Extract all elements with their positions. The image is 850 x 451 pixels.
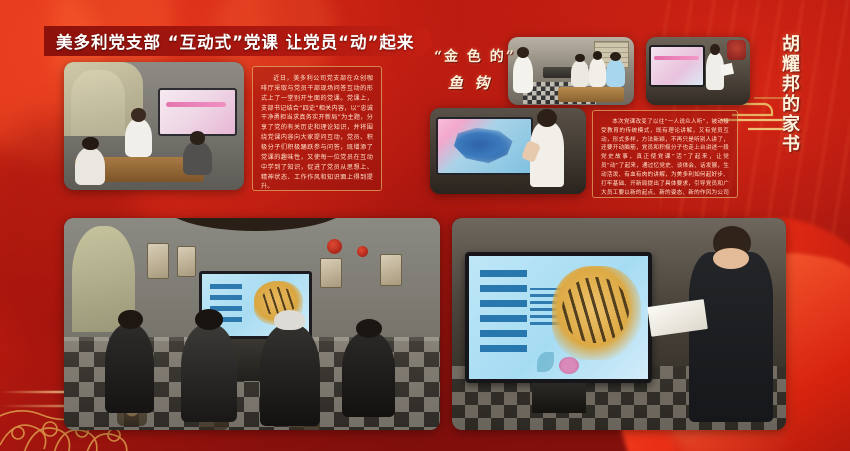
- screen-flower-decoration: [559, 357, 579, 374]
- photo-standing-group-discussion: [508, 37, 634, 105]
- photo-girl-with-fishhook-map-screen: [430, 108, 586, 194]
- photo-wall-frame: [320, 258, 343, 288]
- photo-lantern: [357, 246, 368, 257]
- photo-table: [558, 87, 624, 102]
- photo-man-presenting-at-screen: [646, 37, 750, 105]
- photo-content: [64, 62, 244, 190]
- photo-display-screen: [649, 45, 705, 87]
- photo-content: [452, 218, 786, 430]
- photo-person: [606, 59, 625, 88]
- photo-paper-sheet: [720, 63, 734, 76]
- photo-content: [430, 108, 586, 194]
- article-body-left: 近日，美多利公司党支部在众创咖啡厅采取与党员干部现场问答互动的形式上了一堂别开生…: [261, 74, 373, 191]
- photo-person: [513, 55, 533, 93]
- photo-display-screen: [465, 252, 652, 383]
- photo-person: [181, 324, 237, 422]
- article-text-panel-right: 本次党课改变了以往“一人说众人听”，被动接受教育的传统模式，既有理论讲解，又有党…: [592, 110, 738, 198]
- section-heading-fishhook: 鱼 钩: [448, 72, 492, 93]
- page-title: 美多利党支部 “互动式”党课 让党员“动”起来: [56, 29, 414, 53]
- photo-person: [75, 147, 106, 185]
- screen-tiger-title: [480, 268, 527, 352]
- photo-lantern: [727, 40, 746, 60]
- photo-content: [646, 37, 750, 105]
- photo-display-screen: [436, 117, 533, 175]
- photo-person: [689, 252, 773, 422]
- photo-man-reading-beside-tiger-screen: [452, 218, 786, 430]
- photo-wall-frame: [380, 254, 403, 286]
- photo-audience-watching-tiger-screen: [64, 218, 440, 430]
- photo-content: [64, 218, 440, 430]
- photo-wall-frame: [177, 246, 196, 278]
- photo-wall-frame: [147, 243, 170, 279]
- vertical-heading-hu-yaobang-letters: 胡耀邦的家书: [760, 34, 802, 154]
- photo-person: [342, 332, 395, 417]
- photo-cafe-meeting-room: [64, 62, 244, 190]
- photo-person: [260, 324, 320, 426]
- photo-person: [125, 118, 152, 156]
- photo-arch: [71, 70, 125, 137]
- poster-header-bar: 美多利党支部 “互动式”党课 让党员“动”起来: [44, 26, 432, 56]
- photo-face: [713, 248, 750, 269]
- screen-tiger-illustration: [552, 266, 642, 360]
- photo-display-screen: [158, 88, 237, 137]
- photo-content: [508, 37, 634, 105]
- photo-person: [589, 57, 607, 87]
- photo-person: [183, 141, 212, 174]
- photo-person: [105, 324, 154, 413]
- section-heading-golden: “金 色 的”: [434, 46, 516, 66]
- photo-person: [571, 60, 589, 87]
- photo-screen-stand: [532, 383, 585, 413]
- screen-leaf-decoration: [537, 352, 553, 372]
- article-body-right: 本次党课改变了以往“一人说众人听”，被动接受教育的传统模式，既有理论讲解，又有党…: [601, 118, 729, 198]
- photo-map-illustration: [451, 126, 518, 165]
- poster-canvas: 美多利党支部 “互动式”党课 让党员“动”起来: [0, 0, 850, 451]
- article-text-panel-left: 近日，美多利公司党支部在众创咖啡厅采取与党员干部现场问答互动的形式上了一堂别开生…: [252, 66, 382, 191]
